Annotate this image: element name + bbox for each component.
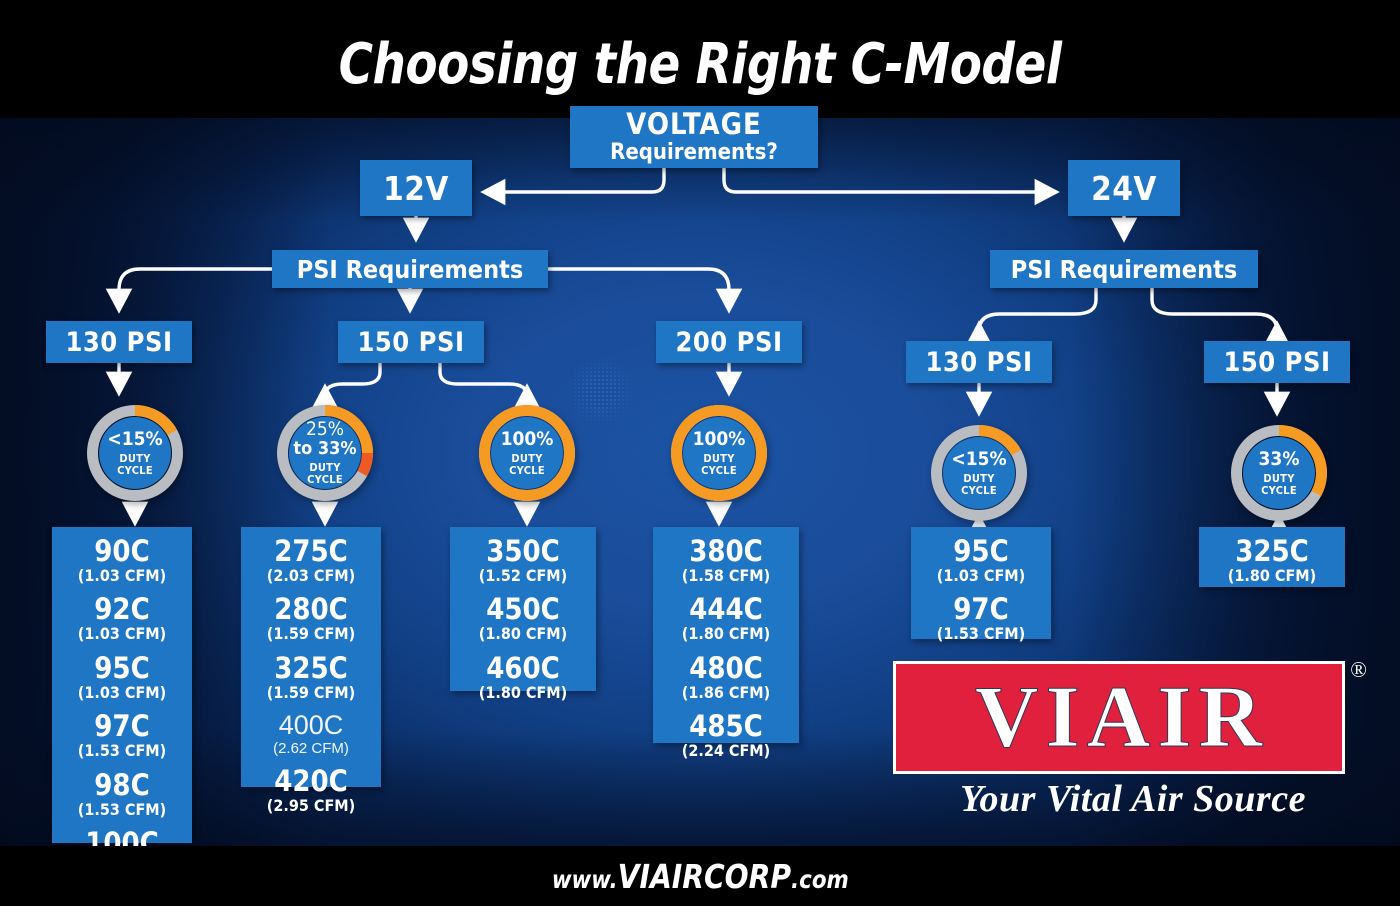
- duty-cycle-ring-center: 33%DUTYCYCLE: [1243, 437, 1315, 509]
- model-name: 98C: [52, 771, 192, 800]
- model-name: 95C: [52, 654, 192, 683]
- model-name: 444C: [653, 595, 799, 624]
- model-cfm: (2.24 CFM): [653, 742, 799, 760]
- model-list-list-3: 350C(1.52 CFM)450C(1.80 CFM)460C(1.80 CF…: [450, 527, 596, 691]
- duty-cycle-ring-r5: <15%DUTYCYCLE: [930, 424, 1028, 522]
- model-cfm: (1.59 CFM): [241, 684, 381, 702]
- model-list-list-2: 275C(2.03 CFM)280C(1.59 CFM)325C(1.59 CF…: [241, 527, 381, 787]
- model-cfm: (2.62 CFM): [241, 740, 381, 757]
- psi-200-12v-label: 200 PSI: [676, 329, 783, 356]
- model-cfm: (1.86 CFM): [653, 684, 799, 702]
- psi-requirements-label-24v: PSI Requirements: [1011, 257, 1237, 282]
- psi-150-24v-label: 150 PSI: [1224, 349, 1331, 376]
- model-item: 325C(1.80 CFM): [1199, 537, 1345, 585]
- duty-cycle-ring-r6: 33%DUTYCYCLE: [1230, 424, 1328, 522]
- model-name: 90C: [52, 537, 192, 566]
- duty-cycle-percent-range: to 33%: [293, 440, 356, 458]
- model-cfm: (1.80 CFM): [450, 684, 596, 702]
- model-cfm: (1.80 CFM): [450, 625, 596, 643]
- model-name: 450C: [450, 595, 596, 624]
- model-cfm: (1.53 CFM): [52, 801, 192, 819]
- node-12v-label: 12V: [383, 172, 449, 205]
- model-name: 485C: [653, 712, 799, 741]
- model-cfm: (1.03 CFM): [52, 625, 192, 643]
- model-cfm: (1.53 CFM): [52, 742, 192, 760]
- model-list-list-4: 380C(1.58 CFM)444C(1.80 CFM)480C(1.86 CF…: [653, 527, 799, 743]
- duty-cycle-ring-r1: <15%DUTYCYCLE: [86, 404, 184, 502]
- model-item: 350C(1.52 CFM): [450, 537, 596, 585]
- model-list-list-5: 95C(1.03 CFM)97C(1.53 CFM): [911, 527, 1051, 639]
- node-voltage-requirements[interactable]: VOLTAGE Requirements?: [570, 106, 818, 168]
- model-item: 90C(1.03 CFM): [52, 537, 192, 585]
- psi-130-24v-label: 130 PSI: [926, 349, 1033, 376]
- duty-cycle-percent: 100%: [693, 430, 746, 449]
- model-cfm: (1.03 CFM): [911, 567, 1051, 585]
- model-name: 325C: [241, 654, 381, 683]
- model-list-list-1: 90C(1.03 CFM)92C(1.03 CFM)95C(1.03 CFM)9…: [52, 527, 192, 843]
- model-name: 325C: [1199, 537, 1345, 566]
- footer-website-url[interactable]: www.VIAIRCORP.com: [552, 857, 849, 896]
- duty-cycle-label: DUTYCYCLE: [1261, 473, 1297, 497]
- duty-cycle-percent: 25%: [306, 420, 344, 439]
- viair-logo: VIAIR ® Your Vital Air Source: [893, 657, 1367, 833]
- url-suffix: .com: [791, 865, 849, 894]
- duty-cycle-percent: 33%: [1259, 450, 1300, 469]
- model-item: 325C(1.59 CFM): [241, 654, 381, 702]
- duty-cycle-label: DUTYCYCLE: [307, 462, 343, 486]
- page-title: Choosing the Right C-Model: [49, 32, 1351, 97]
- model-cfm: (1.53 CFM): [911, 625, 1051, 643]
- model-name: 280C: [241, 595, 381, 624]
- model-cfm: (1.52 CFM): [450, 567, 596, 585]
- url-domain: VIAIRCORP: [617, 857, 790, 896]
- duty-cycle-percent: <15%: [951, 450, 1006, 469]
- voltage-title: VOLTAGE: [626, 110, 762, 139]
- model-item: 400C(2.62 CFM): [241, 712, 381, 757]
- model-item: 480C(1.86 CFM): [653, 654, 799, 702]
- footer-bar: www.VIAIRCORP.com: [0, 846, 1400, 906]
- logo-red-box: VIAIR: [893, 661, 1345, 774]
- registered-trademark-icon: ®: [1350, 657, 1367, 683]
- model-item: 280C(1.59 CFM): [241, 595, 381, 643]
- psi-130-12v-label: 130 PSI: [66, 329, 173, 356]
- duty-cycle-percent: <15%: [107, 430, 162, 449]
- model-name: 460C: [450, 654, 596, 683]
- model-cfm: (1.59 CFM): [241, 625, 381, 643]
- model-cfm: (2.03 CFM): [241, 567, 381, 585]
- duty-cycle-ring-center: 100%DUTYCYCLE: [491, 417, 563, 489]
- model-item: 95C(1.03 CFM): [911, 537, 1051, 585]
- node-24v[interactable]: 24V: [1068, 160, 1180, 216]
- duty-cycle-label: DUTYCYCLE: [961, 473, 997, 497]
- model-name: 92C: [52, 595, 192, 624]
- duty-cycle-label: DUTYCYCLE: [509, 453, 545, 477]
- model-item: 380C(1.58 CFM): [653, 537, 799, 585]
- model-cfm: (1.80 CFM): [1199, 567, 1345, 585]
- model-name: 420C: [241, 767, 381, 796]
- model-name: 400C: [241, 712, 381, 739]
- model-item: 460C(1.80 CFM): [450, 654, 596, 702]
- psi-150-12v-label: 150 PSI: [358, 329, 465, 356]
- node-psi-requirements-24v[interactable]: PSI Requirements: [990, 250, 1258, 288]
- model-cfm: (2.95 CFM): [241, 797, 381, 815]
- model-name: 480C: [653, 654, 799, 683]
- logo-tagline: Your Vital Air Source: [907, 777, 1359, 821]
- model-cfm: (1.03 CFM): [52, 567, 192, 585]
- model-name: 380C: [653, 537, 799, 566]
- node-psi-200-12v[interactable]: 200 PSI: [656, 321, 802, 363]
- node-psi-requirements-12v[interactable]: PSI Requirements: [272, 250, 548, 288]
- model-cfm: (1.03 CFM): [52, 684, 192, 702]
- duty-cycle-ring-r4: 100%DUTYCYCLE: [670, 404, 768, 502]
- url-prefix: www.: [552, 865, 618, 894]
- model-item: 444C(1.80 CFM): [653, 595, 799, 643]
- model-cfm: (1.80 CFM): [653, 625, 799, 643]
- model-item: 420C(2.95 CFM): [241, 767, 381, 815]
- duty-cycle-ring-center: 25%to 33%DUTYCYCLE: [289, 417, 361, 489]
- node-24v-label: 24V: [1091, 172, 1157, 205]
- infographic-canvas: Choosing the Right C-Model: [0, 0, 1400, 906]
- model-item: 97C(1.53 CFM): [52, 712, 192, 760]
- model-item: 275C(2.03 CFM): [241, 537, 381, 585]
- model-item: 97C(1.53 CFM): [911, 595, 1051, 643]
- model-name: 95C: [911, 537, 1051, 566]
- duty-cycle-ring-center: <15%DUTYCYCLE: [99, 417, 171, 489]
- node-psi-130-12v[interactable]: 130 PSI: [46, 321, 192, 363]
- node-psi-150-12v[interactable]: 150 PSI: [338, 321, 484, 363]
- node-12v[interactable]: 12V: [360, 160, 472, 216]
- voltage-subtitle: Requirements?: [610, 141, 778, 164]
- model-item: 485C(2.24 CFM): [653, 712, 799, 760]
- model-item: 450C(1.80 CFM): [450, 595, 596, 643]
- duty-cycle-ring-r2: 25%to 33%DUTYCYCLE: [276, 404, 374, 502]
- model-name: 275C: [241, 537, 381, 566]
- model-list-list-6: 325C(1.80 CFM): [1199, 527, 1345, 587]
- duty-cycle-label: DUTYCYCLE: [117, 453, 153, 477]
- logo-wordmark: VIAIR: [969, 674, 1269, 762]
- model-cfm: (1.58 CFM): [653, 567, 799, 585]
- model-item: 95C(1.03 CFM): [52, 654, 192, 702]
- duty-cycle-label: DUTYCYCLE: [701, 453, 737, 477]
- model-name: 97C: [911, 595, 1051, 624]
- duty-cycle-ring-center: 100%DUTYCYCLE: [683, 417, 755, 489]
- model-name: 350C: [450, 537, 596, 566]
- duty-cycle-percent: 100%: [501, 430, 554, 449]
- model-item: 92C(1.03 CFM): [52, 595, 192, 643]
- node-psi-130-24v[interactable]: 130 PSI: [906, 341, 1052, 383]
- model-item: 98C(1.53 CFM): [52, 771, 192, 819]
- node-psi-150-24v[interactable]: 150 PSI: [1204, 341, 1350, 383]
- model-name: 97C: [52, 712, 192, 741]
- duty-cycle-ring-center: <15%DUTYCYCLE: [943, 437, 1015, 509]
- psi-requirements-label-12v: PSI Requirements: [297, 257, 523, 282]
- duty-cycle-ring-r3: 100%DUTYCYCLE: [478, 404, 576, 502]
